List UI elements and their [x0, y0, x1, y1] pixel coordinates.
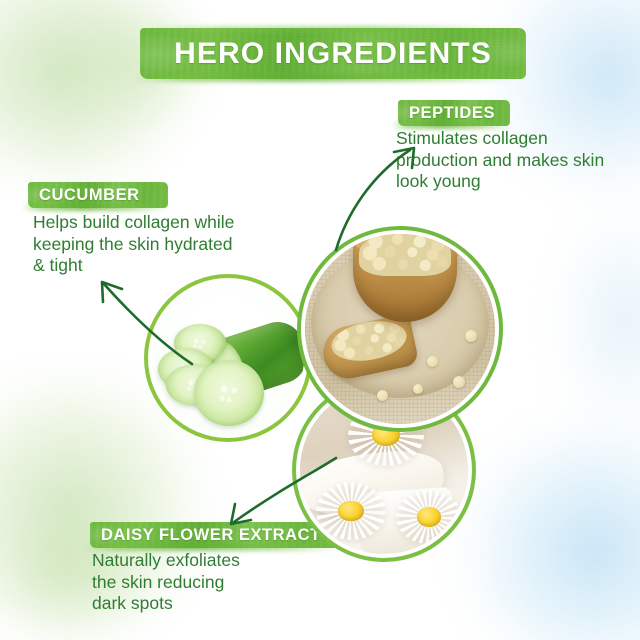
loose-soybean [377, 390, 388, 401]
ingredient-description-cucumber: Helps build collagen while keeping the s… [33, 212, 263, 277]
soybean-scene [305, 234, 495, 424]
ingredient-photo-peptides [305, 234, 495, 424]
arrow-to-peptides [330, 128, 450, 253]
daisy-center [338, 501, 363, 522]
infographic-canvas: HERO INGREDIENTS CUCUMBER Helps build co… [0, 0, 640, 640]
ingredient-label-cucumber: CUCUMBER [28, 182, 168, 208]
loose-soybean [453, 376, 465, 388]
cucumber-slice [194, 360, 264, 426]
watercolor-wash-right [520, 170, 640, 470]
loose-soybean [413, 384, 423, 394]
page-title: HERO INGREDIENTS [140, 28, 526, 79]
loose-soybean [427, 356, 438, 367]
daisy-center [372, 424, 399, 446]
loose-soybean [465, 330, 477, 342]
ingredient-badge-cucumber: CUCUMBER [28, 182, 168, 208]
ingredient-description-daisy: Naturally exfoliates the skin reducing d… [92, 550, 322, 615]
ingredient-label-peptides: PEPTIDES [398, 100, 510, 126]
ingredient-badge-peptides: PEPTIDES [398, 100, 510, 126]
arrow-curve [104, 284, 192, 364]
arrow-curve [336, 150, 410, 250]
daisy-flower [396, 490, 462, 544]
page-title-banner: HERO INGREDIENTS [140, 28, 526, 79]
arrow-to-cucumber [80, 268, 200, 368]
arrow-curve [234, 458, 336, 522]
arrow-to-daisy [210, 450, 340, 545]
daisy-center [417, 507, 441, 526]
cucumber-seed-pattern [212, 378, 246, 408]
